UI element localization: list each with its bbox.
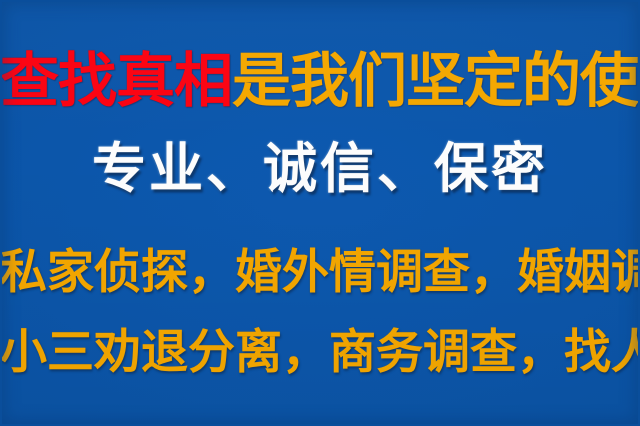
services-line-1: 私家侦探，婚外情调查，婚姻调查， (0, 246, 640, 300)
headline-red-segment: 查找真相 (0, 46, 232, 115)
headline-gold-segment: 是我们坚定的使命 (232, 46, 640, 115)
services-line-2: 小三劝退分离，商务调查，找人寻人 (0, 326, 640, 380)
values-line: 专业、诚信、保密 (0, 138, 640, 200)
headline-line: 查找真相是我们坚定的使命 (0, 48, 640, 114)
promo-banner: 查找真相是我们坚定的使命 专业、诚信、保密 私家侦探，婚外情调查，婚姻调查， 小… (0, 0, 640, 426)
